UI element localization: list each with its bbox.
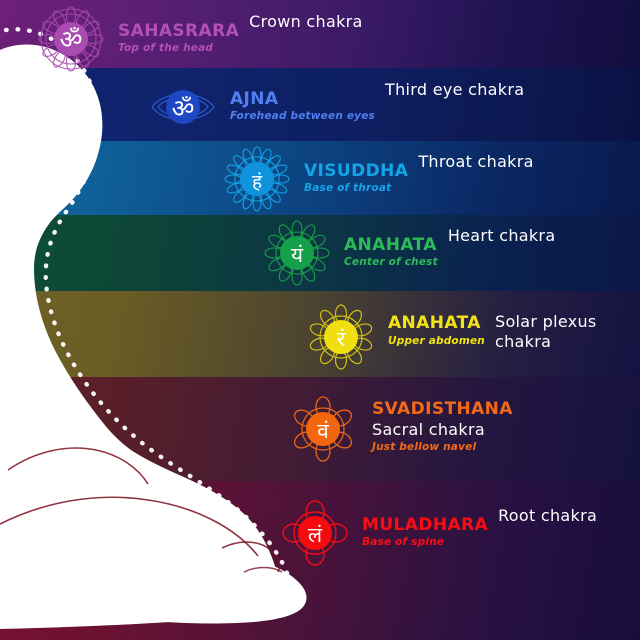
svg-text:लं: लं (308, 523, 323, 547)
chakra-name-muladhara: MULADHARA (362, 516, 488, 536)
chakra-description-svadisthana: Sacral chakra (372, 420, 485, 440)
chakra-row-manipura[interactable]: रं ANAHATA Upper abdomen Solar plexus ch… (308, 304, 597, 370)
visuddha-lotus-icon[interactable]: हं (224, 146, 290, 212)
chakra-name-ajna: AJNA (230, 90, 375, 110)
chakra-description-manipura: Solar plexus chakra (495, 312, 597, 351)
chakra-location-ajna: Forehead between eyes (230, 109, 375, 125)
chakra-infographic: ॐ SAHASRARA Top of the head Crown chakra… (0, 0, 640, 640)
chakra-row-sahasrara[interactable]: ॐ SAHASRARA Top of the head Crown chakra (38, 6, 363, 72)
chakra-name-anahata: ANAHATA (344, 236, 438, 256)
manipura-lotus-icon[interactable]: रं (308, 304, 374, 370)
ajna-eye-icon[interactable]: ॐ (150, 74, 216, 140)
sahasrara-lotus-icon[interactable]: ॐ (38, 6, 104, 72)
chakra-location-manipura: Upper abdomen (388, 334, 485, 350)
anahata-lotus-icon[interactable]: यं (264, 220, 330, 286)
chakra-location-sahasrara: Top of the head (118, 41, 239, 57)
svg-text:वं: वं (317, 419, 329, 443)
chakra-row-muladhara[interactable]: लं MULADHARA Base of spine Root chakra (282, 500, 597, 566)
chakra-row-visuddha[interactable]: हं VISUDDHA Base of throat Throat chakra (224, 146, 534, 212)
chakra-name-sahasrara: SAHASRARA (118, 22, 239, 42)
chakra-description-visuddha: Throat chakra (418, 152, 533, 172)
chakra-description-sahasrara: Crown chakra (249, 12, 363, 32)
chakra-name-svadisthana: SVADISTHANA (372, 400, 513, 420)
svg-text:रं: रं (337, 327, 346, 351)
muladhara-lotus-icon[interactable]: लं (282, 500, 348, 566)
chakra-description-muladhara: Root chakra (498, 506, 597, 526)
chakra-description-anahata: Heart chakra (448, 226, 556, 246)
chakra-location-anahata: Center of chest (344, 255, 438, 271)
chakra-location-visuddha: Base of throat (304, 181, 408, 197)
chakra-row-ajna[interactable]: ॐ AJNA Forehead between eyes Third eye c… (150, 74, 524, 140)
svadisthana-lotus-icon[interactable]: वं (290, 396, 356, 462)
chakra-description-ajna: Third eye chakra (385, 80, 524, 100)
svg-text:ॐ: ॐ (60, 25, 83, 54)
chakra-row-svadisthana[interactable]: वं SVADISTHANA Sacral chakra Just bellow… (290, 396, 513, 462)
chakra-row-anahata[interactable]: यं ANAHATA Center of chest Heart chakra (264, 220, 555, 286)
chakra-location-svadisthana: Just bellow navel (372, 440, 476, 456)
svg-text:ॐ: ॐ (172, 94, 195, 123)
chakra-name-visuddha: VISUDDHA (304, 162, 408, 182)
svg-text:यं: यं (291, 243, 304, 267)
chakra-location-muladhara: Base of spine (362, 535, 488, 551)
svg-text:हं: हं (252, 171, 263, 193)
chakra-name-manipura: ANAHATA (388, 314, 485, 334)
